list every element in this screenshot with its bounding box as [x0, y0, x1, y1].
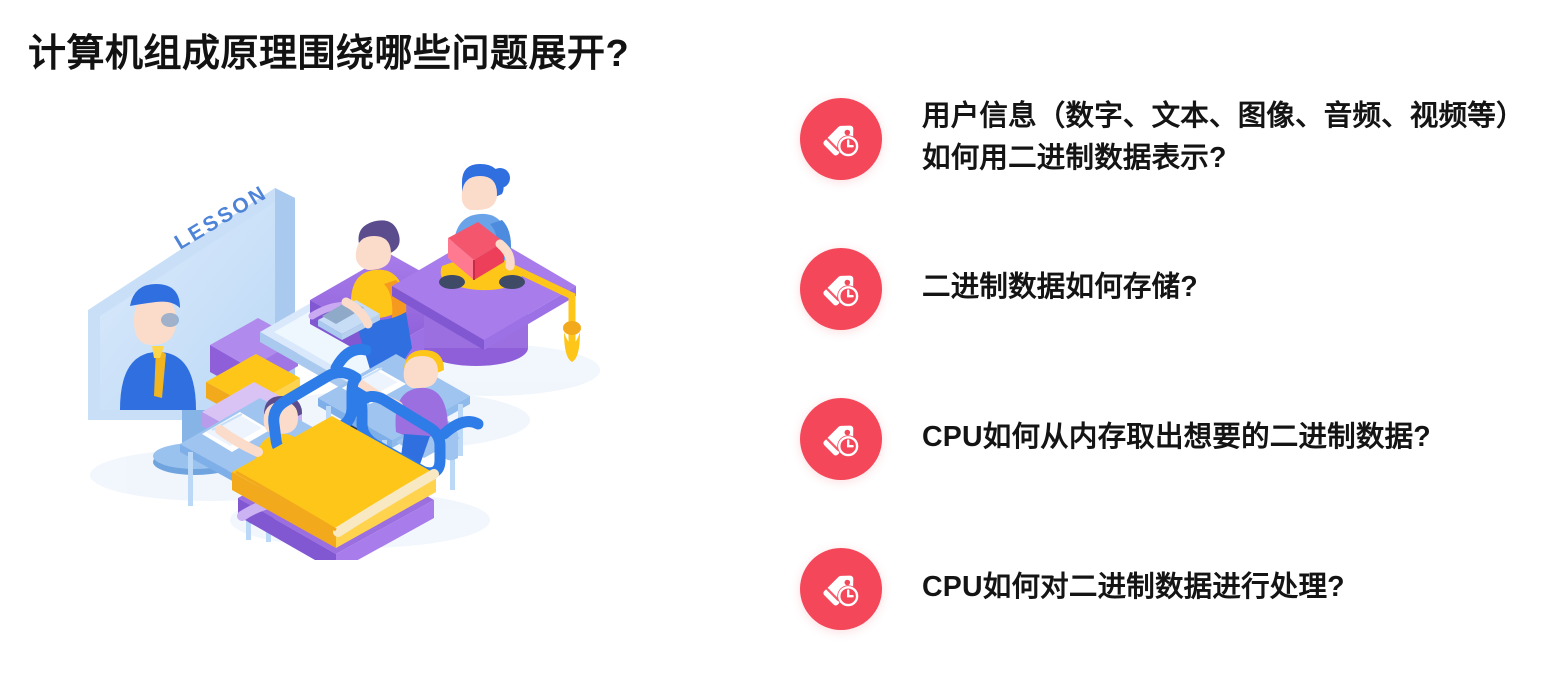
tag-clock-icon	[800, 398, 882, 480]
list-item-label: CPU如何从内存取出想要的二进制数据?	[922, 386, 1540, 458]
slide-root: 计算机组成原理围绕哪些问题展开?	[0, 0, 1562, 689]
question-list: 用户信息（数字、文本、图像、音频、视频等）如何用二进制数据表示? 二进制数据如何…	[800, 86, 1540, 686]
elearning-illustration: LESSON	[60, 120, 680, 560]
list-item[interactable]: 用户信息（数字、文本、图像、音频、视频等）如何用二进制数据表示?	[800, 86, 1540, 236]
list-item[interactable]: 二进制数据如何存储?	[800, 236, 1540, 386]
person-reading-on-cap	[439, 164, 525, 290]
list-item-label: CPU如何对二进制数据进行处理?	[922, 536, 1540, 608]
list-item-label: 二进制数据如何存储?	[922, 236, 1540, 308]
list-item-label: 用户信息（数字、文本、图像、音频、视频等）如何用二进制数据表示?	[922, 86, 1540, 179]
list-item[interactable]: CPU如何从内存取出想要的二进制数据?	[800, 386, 1540, 536]
list-item[interactable]: CPU如何对二进制数据进行处理?	[800, 536, 1540, 686]
tag-clock-icon	[800, 98, 882, 180]
tag-clock-icon	[800, 548, 882, 630]
tag-clock-icon	[800, 248, 882, 330]
page-title: 计算机组成原理围绕哪些问题展开?	[28, 31, 629, 79]
